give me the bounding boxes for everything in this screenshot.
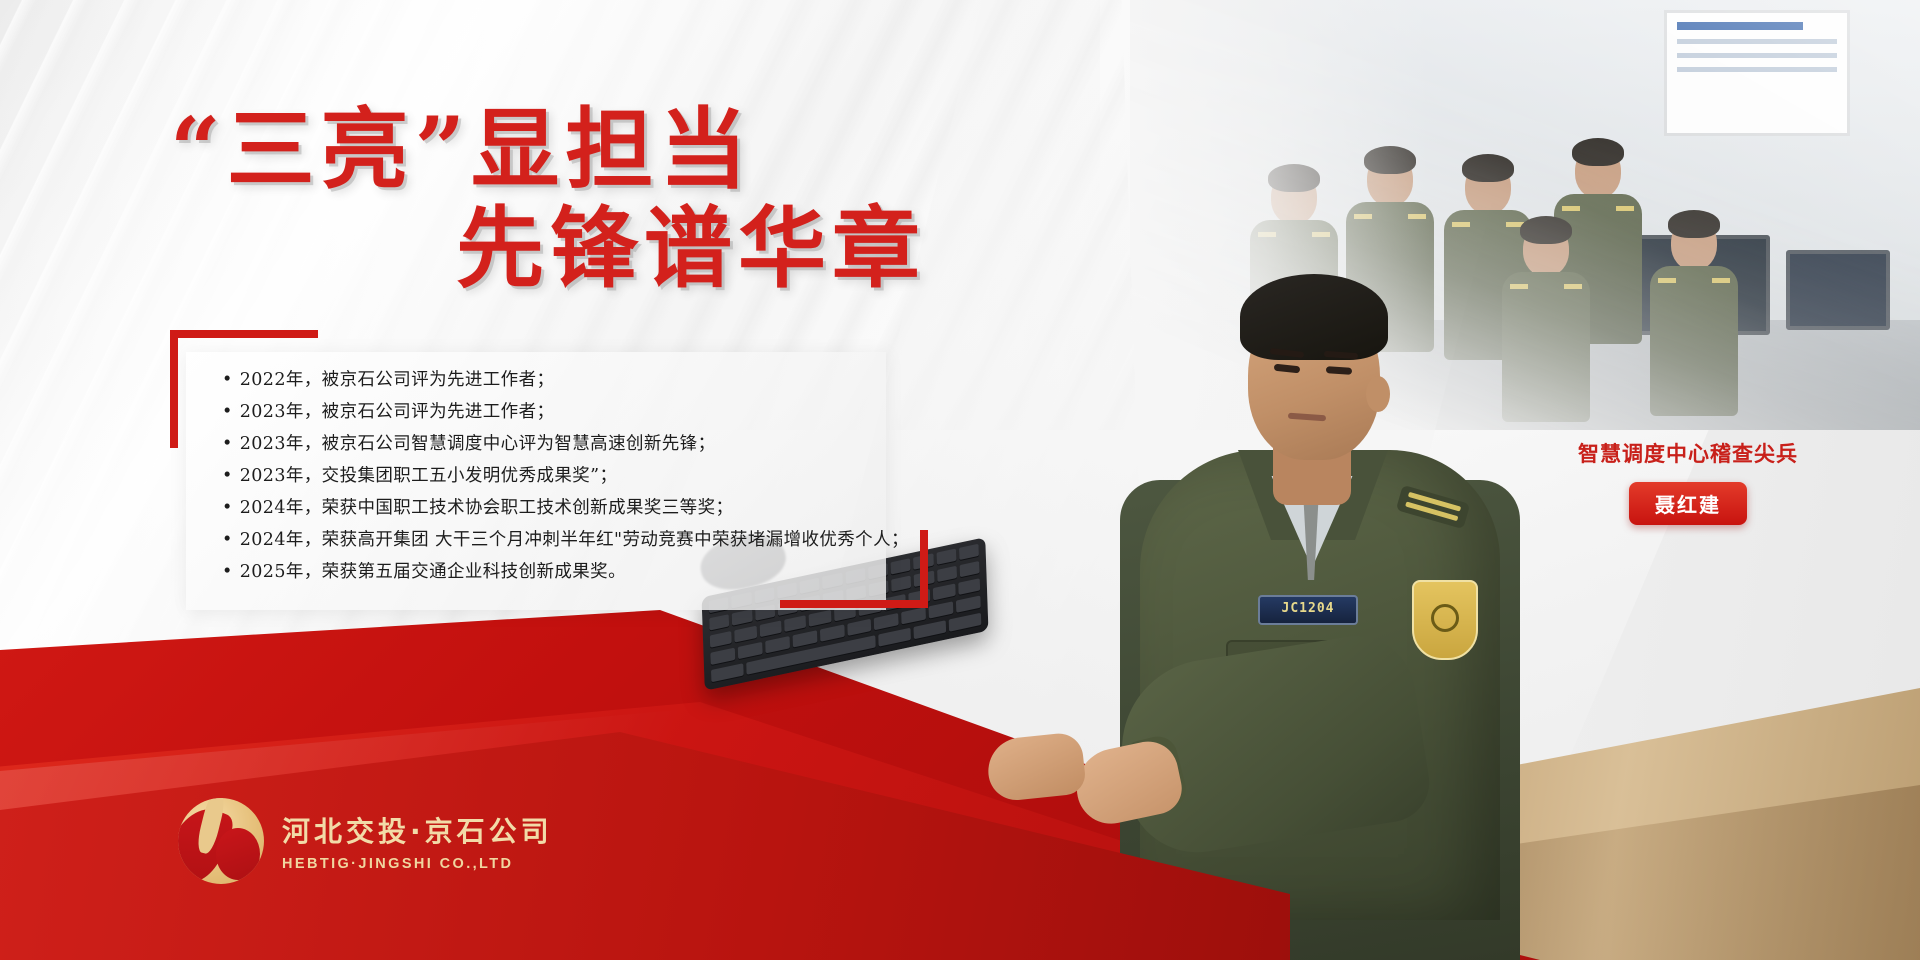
logo-name-cn: 河北交投·京石公司 [282,810,553,850]
figure-shoulder-patch [1412,580,1478,660]
list-item: 2023年，被京石公司评为先进工作者； [222,404,962,422]
poster-canvas: JC1204 “三亮”显担当 先锋谱华章 2022年，被京石公司评为先进工作者；… [0,0,1920,960]
list-item: 2024年，荣获中国职工技术协会职工技术创新成果奖三等奖； [222,500,962,518]
list-item: 2024年，荣获高开集团 大干三个月冲刺半年红"劳动竞赛中荣获堵漏增收优秀个人； [222,532,962,550]
bracket-top-left-vertical [170,330,178,448]
figure-name-badge: JC1204 [1258,595,1358,625]
bracket-top-left-horizontal [170,330,318,338]
logo-name-en: HEBTIG·JINGSHI CO.,LTD [282,856,553,872]
list-item: 2025年，荣获第五届交通企业科技创新成果奖。 [222,564,962,582]
person-name-badge: 聂红建 [1629,482,1747,525]
list-item: 2022年，被京石公司评为先进工作者； [222,372,962,390]
officer-figure: JC1204 [1030,130,1590,960]
logo-mark-icon [178,798,264,884]
achievements-list: 2022年，被京石公司评为先进工作者； 2023年，被京石公司评为先进工作者； … [222,372,962,596]
list-item: 2023年，被京石公司智慧调度中心评为智慧高速创新先锋； [222,436,962,454]
person-role-text: 智慧调度中心稽查尖兵 [1568,438,1808,468]
bracket-bottom-right-horizontal [780,600,928,608]
figure-hair [1240,274,1388,360]
figure-ear [1366,376,1390,412]
person-caption: 智慧调度中心稽查尖兵 聂红建 [1568,438,1808,525]
list-item: 2023年，交投集团职工五小发明优秀成果奖”； [222,468,962,486]
company-logo: 河北交投·京石公司 HEBTIG·JINGSHI CO.,LTD [178,798,553,884]
logo-text: 河北交投·京石公司 HEBTIG·JINGSHI CO.,LTD [282,810,553,872]
